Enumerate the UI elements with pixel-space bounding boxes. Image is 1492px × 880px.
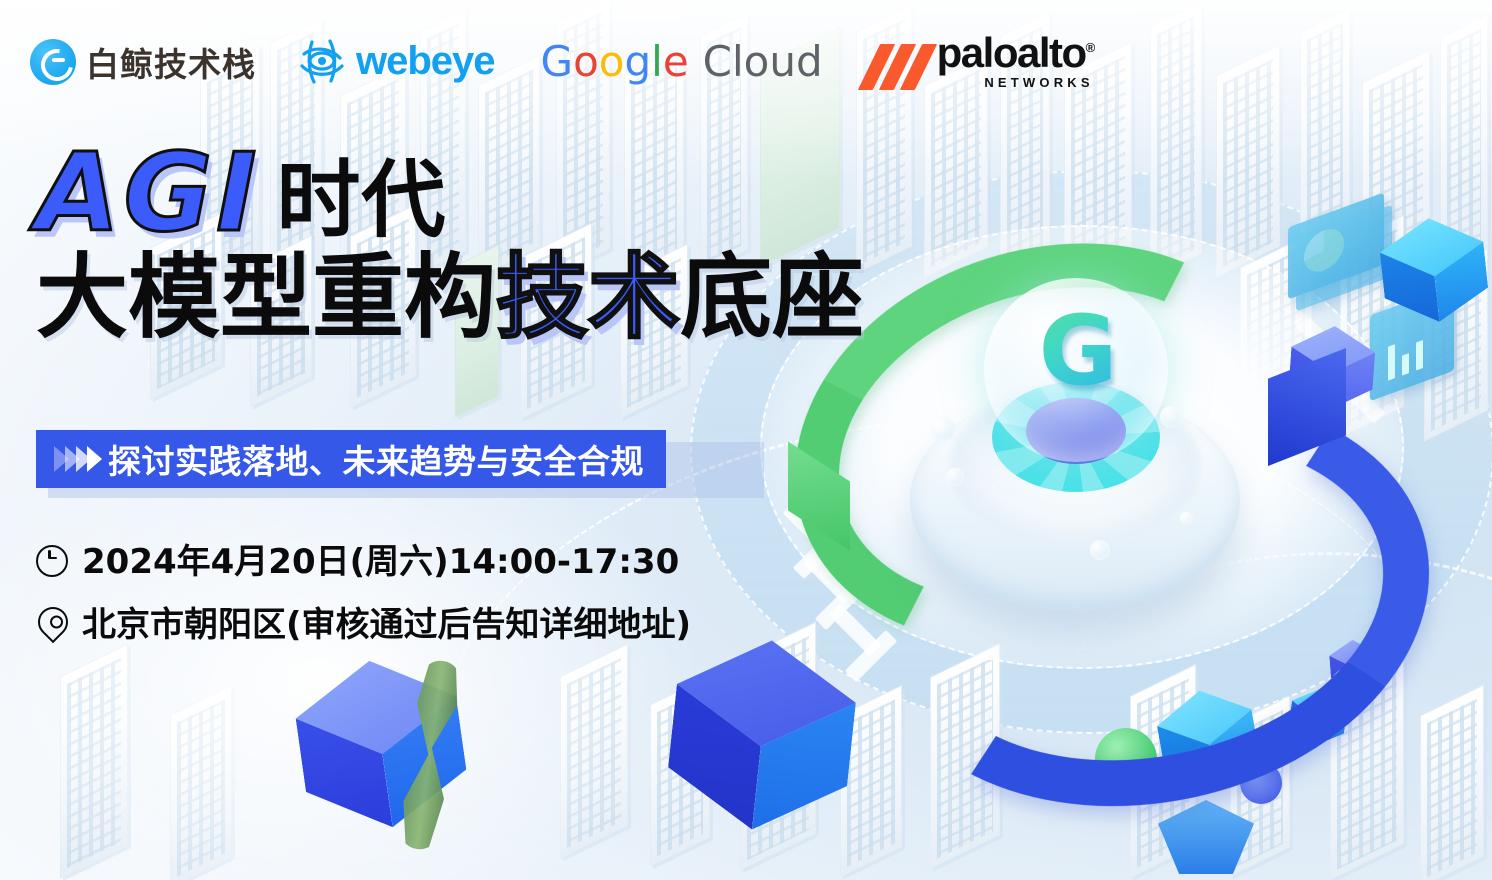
subtitle-banner: 探讨实践落地、未来趋势与安全合规 — [36, 430, 666, 488]
headline-accent-tech: 技术 — [496, 252, 680, 344]
google-letter-G: G — [541, 37, 574, 86]
logo-google-cloud: Google Cloud — [541, 37, 823, 86]
logo-paloalto-networks: paloalto® NETWORKS — [869, 34, 1094, 90]
clock-icon — [36, 542, 70, 576]
logo-webeye: webeye — [296, 36, 495, 88]
paloalto-subtitle: NETWORKS — [984, 75, 1093, 90]
google-letter-o2: o — [599, 37, 625, 86]
paloalto-wordmark: paloalto® — [937, 34, 1094, 73]
chevrons-icon — [54, 446, 98, 472]
headline-agi: AGI — [36, 140, 260, 248]
headline-block: AGI 时代 大模型重构 技术 底座 — [36, 140, 864, 344]
sponsor-logo-row: 白鲸技术栈 webeye Google — [30, 34, 1094, 90]
logo-webeye-label: webeye — [356, 39, 495, 84]
event-location-row: 北京市朝阳区(审核通过后告知详细地址) — [36, 597, 691, 646]
event-info-block: 2024年4月20日(周六)14:00-17:30 北京市朝阳区(审核通过后告知… — [36, 534, 691, 660]
google-wordmark-icon: Google — [541, 37, 689, 86]
center-letter-g: G — [1032, 308, 1124, 400]
headline-part2: 底座 — [680, 252, 864, 344]
whale-circle-icon — [30, 39, 76, 85]
location-pin-icon — [36, 605, 70, 639]
registered-mark-icon: ® — [1086, 40, 1094, 55]
subtitle-text: 探讨实践落地、未来趋势与安全合规 — [108, 435, 644, 483]
google-cloud-word: Cloud — [703, 37, 823, 86]
webeye-eye-icon — [296, 36, 348, 88]
event-datetime-row: 2024年4月20日(周六)14:00-17:30 — [36, 534, 691, 583]
headline-part1: 大模型重构 — [36, 252, 496, 344]
event-datetime-text: 2024年4月20日(周六)14:00-17:30 — [82, 534, 679, 583]
logo-baijing: 白鲸技术栈 — [30, 38, 256, 86]
event-poster: 白鲸技术栈 webeye Google — [0, 0, 1492, 880]
paloalto-bars-icon — [869, 44, 927, 90]
event-location-text: 北京市朝阳区(审核通过后告知详细地址) — [82, 597, 691, 646]
paloalto-name: paloalto — [937, 29, 1086, 76]
bubble-decor — [930, 416, 956, 442]
google-letter-o1: o — [573, 37, 599, 86]
google-letter-e: e — [663, 37, 689, 86]
google-letter-l: l — [651, 37, 663, 86]
google-letter-g: g — [624, 37, 651, 86]
headline-era: 时代 — [276, 158, 446, 242]
logo-baijing-label: 白鲸技术栈 — [86, 38, 256, 86]
